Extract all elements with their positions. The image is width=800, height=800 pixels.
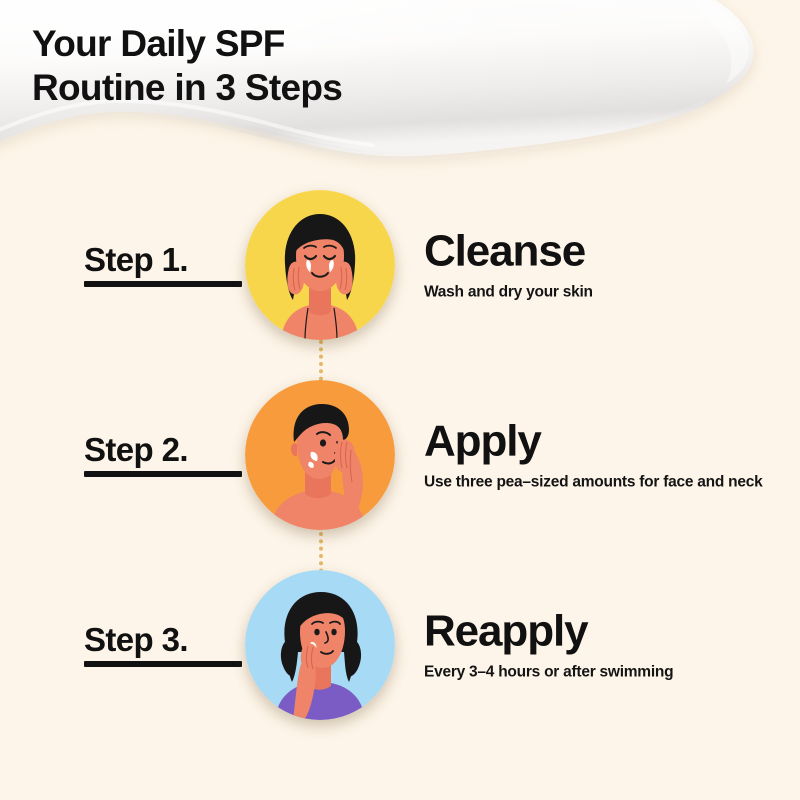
step-1-text-group: Cleanse Wash and dry your skin	[424, 229, 593, 300]
spf-routine-infographic: Your Daily SPF Routine in 3 Steps Step 1…	[0, 0, 800, 800]
step-3-illustration-circle	[245, 570, 395, 720]
step-3-description: Every 3–4 hours or after swimming	[424, 663, 673, 680]
person-applying-sunscreen-icon	[245, 380, 395, 530]
step-1-illustration-circle	[245, 190, 395, 340]
step-2-illustration-circle	[245, 380, 395, 530]
step-3-underline	[84, 661, 242, 667]
steps-list: Step 1.	[0, 170, 800, 740]
step-1-title: Cleanse	[424, 229, 585, 273]
step-1-description: Wash and dry your skin	[424, 283, 593, 300]
step-row-1: Step 1.	[0, 170, 800, 360]
step-3-label-group: Step 3.	[84, 623, 242, 667]
step-2-label-group: Step 2.	[84, 433, 242, 477]
woman-washing-face-icon	[245, 190, 395, 340]
step-2-text-group: Apply Use three pea–sized amounts for fa…	[424, 419, 762, 490]
step-row-3: Step 3.	[0, 550, 800, 740]
step-row-2: Step 2.	[0, 360, 800, 550]
step-3-text-group: Reapply Every 3–4 hours or after swimmin…	[424, 609, 673, 680]
step-2-underline	[84, 471, 242, 477]
step-1-label: Step 1.	[84, 243, 188, 281]
step-3-label: Step 3.	[84, 623, 188, 661]
step-2-label: Step 2.	[84, 433, 188, 471]
step-1-underline	[84, 281, 242, 287]
step-3-title: Reapply	[424, 609, 587, 653]
page-title: Your Daily SPF Routine in 3 Steps	[32, 22, 462, 109]
step-1-label-group: Step 1.	[84, 243, 242, 287]
woman-reapplying-cream-icon	[245, 570, 395, 720]
step-2-description: Use three pea–sized amounts for face and…	[424, 473, 762, 490]
step-2-title: Apply	[424, 419, 541, 463]
